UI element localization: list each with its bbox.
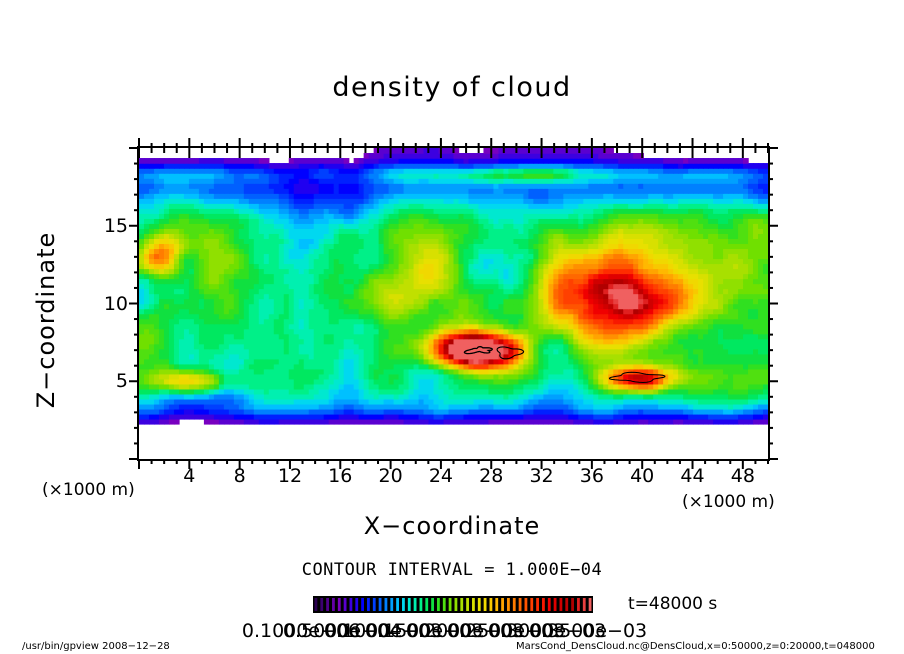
footer-dataset-label: MarsCond_DensCloud.nc@DensCloud,x=0:5000… bbox=[516, 641, 875, 652]
colorbar-band bbox=[361, 598, 364, 611]
colorbar-band bbox=[396, 598, 399, 611]
colorbar-tick-labels: 0.1000e−060.5000e−040.1000e−030.1500e−03… bbox=[0, 620, 904, 640]
colorbar-band bbox=[367, 598, 370, 611]
colorbar-band bbox=[542, 598, 545, 611]
x-tick-label: 20 bbox=[379, 465, 403, 487]
y-tick-label: 15 bbox=[88, 215, 128, 237]
colorbar-band bbox=[530, 598, 533, 611]
contour-interval-caption: CONTOUR INTERVAL = 1.000E−04 bbox=[0, 560, 904, 580]
colorbar-band bbox=[548, 598, 551, 611]
colorbar-band bbox=[443, 598, 446, 611]
colorbar-band bbox=[484, 598, 487, 611]
colorbar-band bbox=[344, 598, 347, 611]
colorbar-band bbox=[332, 598, 335, 611]
colorbar-band bbox=[495, 598, 498, 611]
time-label: t=48000 s bbox=[628, 594, 717, 614]
x-tick-label: 32 bbox=[529, 465, 553, 487]
colorbar-band bbox=[519, 598, 522, 611]
colorbar-tick-label: 0.3500e−03 bbox=[529, 620, 647, 642]
colorbar-band bbox=[554, 598, 557, 611]
x-tick-label: 36 bbox=[580, 465, 604, 487]
colorbar-band bbox=[460, 598, 463, 611]
colorbar-band bbox=[414, 598, 417, 611]
page-title: density of cloud bbox=[0, 72, 904, 103]
colorbar-band bbox=[525, 598, 528, 611]
x-tick-label: 4 bbox=[183, 465, 195, 487]
colorbar-band bbox=[571, 598, 574, 611]
colorbar-band bbox=[577, 598, 580, 611]
colorbar-band bbox=[536, 598, 539, 611]
colorbar-band bbox=[326, 598, 329, 611]
colorbar-band bbox=[379, 598, 382, 611]
colorbar-band bbox=[315, 598, 318, 611]
x-tick-label: 40 bbox=[630, 465, 654, 487]
x-axis-units-label: (×1000 m) bbox=[682, 492, 775, 512]
x-tick-label: 12 bbox=[278, 465, 302, 487]
x-tick-label: 24 bbox=[429, 465, 453, 487]
colorbar-band bbox=[425, 598, 428, 611]
colorbar-band bbox=[320, 598, 323, 611]
colorbar-band bbox=[338, 598, 341, 611]
colorbar-band bbox=[513, 598, 516, 611]
colorbar-band bbox=[449, 598, 452, 611]
colorbar-band bbox=[589, 598, 592, 611]
x-tick-label: 28 bbox=[479, 465, 503, 487]
colorbar-band bbox=[373, 598, 376, 611]
colorbar-bands bbox=[313, 596, 593, 613]
colorbar-band bbox=[466, 598, 469, 611]
colorbar-band bbox=[437, 598, 440, 611]
x-axis-tick-labels: 4812162024283236404448 bbox=[0, 465, 904, 491]
colorbar-band bbox=[507, 598, 510, 611]
y-tick-label: 5 bbox=[88, 370, 128, 392]
colorbar-band bbox=[402, 598, 405, 611]
footer-command-label: /usr/bin/gpview 2008−12−28 bbox=[22, 641, 170, 652]
colorbar-band bbox=[431, 598, 434, 611]
x-axis-title: X−coordinate bbox=[0, 512, 904, 540]
colorbar-band bbox=[408, 598, 411, 611]
colorbar-band bbox=[472, 598, 475, 611]
gpview-plot-window: density of cloud 4812162024283236404448 … bbox=[0, 0, 904, 654]
colorbar-band bbox=[478, 598, 481, 611]
contour-plot-area bbox=[137, 146, 770, 461]
x-tick-label: 8 bbox=[234, 465, 246, 487]
y-axis-tick-labels: 51015 bbox=[88, 146, 132, 461]
colorbar-band bbox=[350, 598, 353, 611]
contour-field-svg bbox=[139, 148, 768, 459]
colorbar-band bbox=[390, 598, 393, 611]
x-tick-label: 48 bbox=[731, 465, 755, 487]
colorbar-band bbox=[420, 598, 423, 611]
colorbar-band bbox=[501, 598, 504, 611]
colorbar-band bbox=[355, 598, 358, 611]
y-tick-label: 10 bbox=[88, 293, 128, 315]
y-axis-units-label: (×1000 m) bbox=[42, 480, 135, 500]
x-tick-label: 44 bbox=[680, 465, 704, 487]
contour-filled-cells bbox=[139, 148, 768, 425]
colorbar-band bbox=[560, 598, 563, 611]
x-tick-label: 16 bbox=[328, 465, 352, 487]
colorbar-band bbox=[490, 598, 493, 611]
y-axis-title: Z−coordinate bbox=[32, 210, 60, 430]
colorbar-band bbox=[583, 598, 586, 611]
colorbar-band bbox=[565, 598, 568, 611]
colorbar-band bbox=[455, 598, 458, 611]
colorbar-band bbox=[385, 598, 388, 611]
colorbar bbox=[313, 596, 593, 613]
